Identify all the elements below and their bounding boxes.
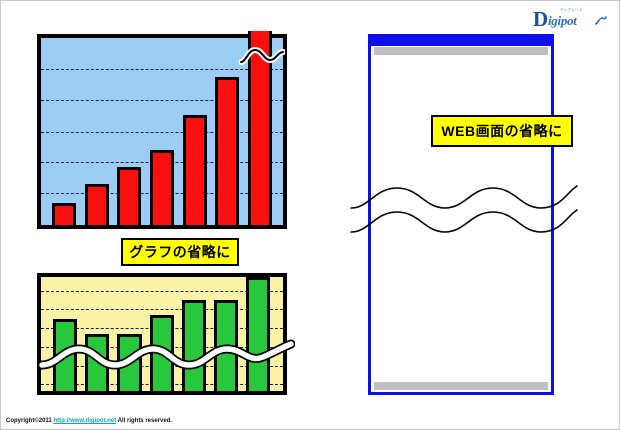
red-chart-plot bbox=[41, 38, 283, 225]
bar-7 bbox=[246, 277, 270, 391]
slide-canvas: テンプレート D igipot グラフの省略に bbox=[0, 0, 620, 430]
bar-2 bbox=[85, 184, 109, 225]
logo-initial: D bbox=[533, 9, 548, 30]
logo-wordmark: igipot bbox=[548, 14, 577, 27]
window-statusbar bbox=[374, 382, 548, 390]
green-chart-plot bbox=[41, 277, 283, 391]
digipot-logo: テンプレート D igipot bbox=[533, 7, 611, 35]
footer-suffix: All rights reserved. bbox=[116, 418, 172, 424]
page-break-wave-icon bbox=[349, 182, 579, 242]
bar-1 bbox=[53, 319, 77, 391]
bar-3 bbox=[117, 167, 141, 225]
logo-kana-text: テンプレート bbox=[560, 7, 583, 12]
bar-4 bbox=[150, 150, 174, 225]
gridline bbox=[41, 100, 283, 101]
web-browser-mock bbox=[368, 34, 554, 395]
bar-7-truncated bbox=[248, 31, 272, 225]
callout-web-omission: WEB画面の省略に bbox=[431, 115, 573, 147]
window-titlebar bbox=[371, 37, 551, 46]
bar-3 bbox=[117, 334, 141, 391]
bar-1 bbox=[52, 203, 76, 225]
green-bar-chart bbox=[37, 273, 287, 395]
footer-link[interactable]: http://www.digipot.net bbox=[53, 418, 116, 424]
gridline bbox=[41, 69, 283, 70]
callout-graph-omission: グラフの省略に bbox=[121, 238, 239, 266]
window-toolbar bbox=[374, 47, 548, 55]
bar-6 bbox=[215, 77, 239, 225]
bar-6 bbox=[214, 300, 238, 391]
red-bar-chart bbox=[37, 34, 287, 229]
bar-5 bbox=[183, 115, 207, 225]
footer-copyright: Copyright©2011 http://www.digipot.net Al… bbox=[6, 418, 172, 424]
gridline bbox=[41, 132, 283, 133]
bar-4 bbox=[150, 315, 174, 391]
bar-5 bbox=[182, 300, 206, 391]
bar-2 bbox=[85, 334, 109, 391]
footer-prefix: Copyright©2011 bbox=[6, 418, 53, 424]
logo-swash-icon bbox=[595, 16, 607, 26]
